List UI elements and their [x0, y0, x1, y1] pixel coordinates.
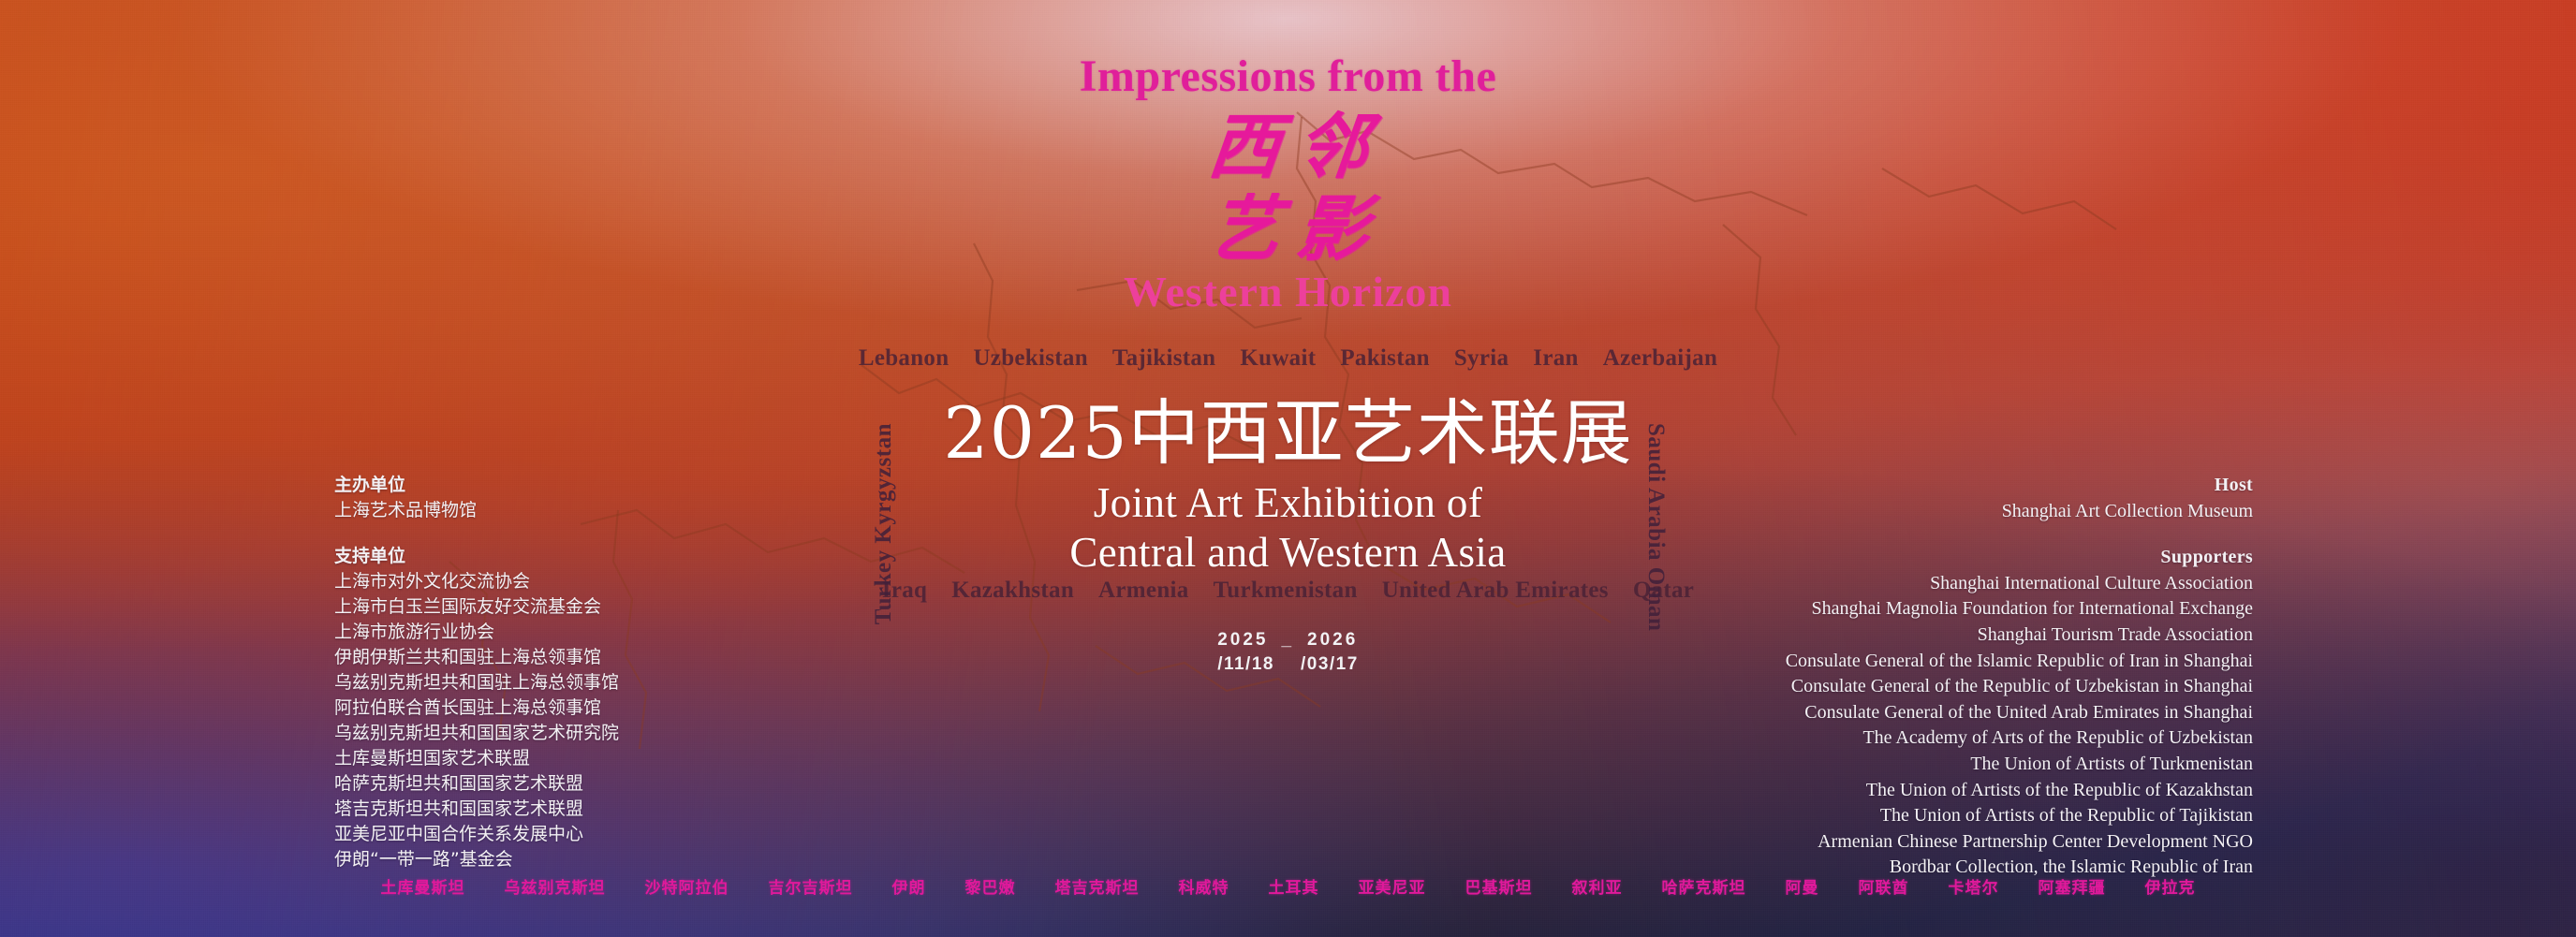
supporter-item: 亚美尼亚中国合作关系发展中心	[334, 822, 619, 847]
country-vertical-right: Saudi Arabia Oman	[1642, 423, 1669, 631]
bottom-country-name: 塔吉克斯坦	[1055, 874, 1140, 898]
supporter-item: 伊朗“一带一路”基金会	[334, 847, 619, 872]
country-name: Pakistan	[1340, 345, 1429, 372]
poster-canvas: Impressions from the 西邻 艺影 Western Horiz…	[0, 0, 2576, 937]
supporter-item: The Union of Artists of the Republic of …	[1786, 778, 2253, 804]
country-name: Turkmenistan	[1214, 578, 1358, 604]
bottom-country-name: 乌兹别克斯坦	[505, 874, 606, 898]
calligraphy-line-2: 艺影	[1188, 195, 1389, 264]
date-start-monthday: /11/18	[1217, 654, 1274, 674]
bottom-country-name: 巴基斯坦	[1465, 874, 1533, 898]
date-year-start: 2025	[1217, 630, 1268, 650]
bottom-country-name: 沙特阿拉伯	[645, 874, 729, 898]
country-name: Azerbaijan	[1603, 345, 1717, 372]
credits-chinese: 主办单位 上海艺术品博物馆 支持单位 上海市对外文化交流协会 上海市白玉兰国际友…	[334, 473, 619, 872]
country-vertical-left: Turkey Kyrgyzstan	[871, 423, 897, 624]
supporter-item: 乌兹别克斯坦共和国国家艺术研究院	[334, 721, 619, 746]
bottom-country-name: 土耳其	[1269, 874, 1319, 898]
title-english-line-1: Joint Art Exhibition of	[1069, 478, 1506, 528]
dates-line-monthday: /11/18/03/17	[1217, 652, 1359, 677]
date-year-end: 2026	[1307, 630, 1358, 650]
header-english-top: Impressions from the	[1080, 54, 1497, 99]
supporter-item: Consulate General of the Republic of Uzb…	[1786, 674, 2253, 700]
supporter-item: Consulate General of the Islamic Republi…	[1786, 649, 2253, 675]
header-english-bottom: Western Horizon	[1124, 271, 1452, 314]
supporters-heading-en: Supporters	[1786, 545, 2253, 571]
bottom-country-name: 伊朗	[892, 874, 926, 898]
bottom-country-name: 吉尔吉斯坦	[769, 874, 853, 898]
supporter-item: Armenian Chinese Partnership Center Deve…	[1786, 829, 2253, 856]
country-name: Tajikistan	[1112, 345, 1215, 372]
country-name: Kazakhstan	[951, 578, 1074, 604]
country-name: Syria	[1454, 345, 1509, 372]
supporter-item: The Union of Artists of Turkmenistan	[1786, 752, 2253, 778]
supporter-item: 上海市对外文化交流协会	[334, 569, 619, 594]
host-heading-zh: 主办单位	[334, 473, 619, 498]
supporter-item: Shanghai Magnolia Foundation for Interna…	[1786, 596, 2253, 622]
supporter-item: Shanghai International Culture Associati…	[1786, 571, 2253, 597]
supporter-item: Shanghai Tourism Trade Association	[1786, 622, 2253, 649]
country-name: United Arab Emirates	[1382, 578, 1609, 604]
supporter-item: 上海市旅游行业协会	[334, 620, 619, 645]
calligraphy-title: 西邻 艺影	[1192, 112, 1385, 265]
supporter-item: 塔吉克斯坦共和国国家艺术联盟	[334, 797, 619, 822]
bottom-country-name: 科威特	[1179, 874, 1229, 898]
bottom-country-name: 土库曼斯坦	[381, 874, 465, 898]
country-name: Kuwait	[1240, 345, 1316, 372]
country-name: Uzbekistan	[973, 345, 1087, 372]
supporter-item: Consulate General of the United Arab Emi…	[1786, 700, 2253, 726]
dates-line-year: 2025_2026	[1217, 628, 1359, 652]
exhibition-title-chinese: 2025中西亚艺术联展	[943, 396, 1632, 471]
supporter-item: 哈萨克斯坦共和国国家艺术联盟	[334, 771, 619, 797]
country-name: Armenia	[1098, 578, 1189, 604]
supporter-item: 上海市白玉兰国际友好交流基金会	[334, 594, 619, 620]
bottom-country-name: 伊拉克	[2145, 874, 2196, 898]
date-end-monthday: /03/17	[1301, 654, 1359, 674]
supporters-heading-zh: 支持单位	[334, 544, 619, 569]
host-heading-en: Host	[1786, 473, 2253, 499]
bottom-country-name: 阿联酋	[1859, 874, 1909, 898]
supporter-item: 伊朗伊斯兰共和国驻上海总领事馆	[334, 645, 619, 670]
host-item: 上海艺术品博物馆	[334, 498, 619, 523]
country-name: Iran	[1533, 345, 1578, 372]
supporter-item: 阿拉伯联合酋长国驻上海总领事馆	[334, 695, 619, 721]
calligraphy-line-1: 西邻	[1188, 112, 1389, 182]
bottom-country-name: 阿曼	[1786, 874, 1819, 898]
title-english-line-2: Central and Western Asia	[1069, 528, 1506, 578]
supporter-item: The Academy of Arts of the Republic of U…	[1786, 725, 2253, 752]
bottom-country-name: 哈萨克斯坦	[1662, 874, 1746, 898]
country-name: Lebanon	[859, 345, 949, 372]
country-ribbon-top: Lebanon Uzbekistan Tajikistan Kuwait Pak…	[859, 345, 1717, 372]
bottom-country-name: 黎巴嫩	[965, 874, 1016, 898]
supporter-item: 土库曼斯坦国家艺术联盟	[334, 746, 619, 771]
supporter-item: The Union of Artists of the Republic of …	[1786, 803, 2253, 829]
host-item: Shanghai Art Collection Museum	[1786, 499, 2253, 525]
country-ribbon-bottom: Iraq Kazakhstan Armenia Turkmenistan Uni…	[882, 578, 1694, 604]
exhibition-dates: 2025_2026 /11/18/03/17	[1217, 628, 1359, 676]
date-separator: _	[1281, 630, 1294, 650]
credits-spacer	[334, 523, 619, 544]
credits-english: Host Shanghai Art Collection Museum Supp…	[1786, 473, 2253, 881]
bottom-country-name: 阿塞拜疆	[2039, 874, 2106, 898]
bottom-country-name: 叙利亚	[1572, 874, 1623, 898]
credits-spacer	[1786, 524, 2253, 545]
bottom-country-name: 卡塔尔	[1949, 874, 1999, 898]
bottom-country-strip: 土库曼斯坦 乌兹别克斯坦 沙特阿拉伯 吉尔吉斯坦 伊朗 黎巴嫩 塔吉克斯坦 科威…	[0, 874, 2576, 898]
exhibition-title-english: Joint Art Exhibition of Central and West…	[1069, 478, 1506, 578]
supporter-item: 乌兹别克斯坦共和国驻上海总领事馆	[334, 670, 619, 695]
bottom-country-name: 亚美尼亚	[1359, 874, 1426, 898]
